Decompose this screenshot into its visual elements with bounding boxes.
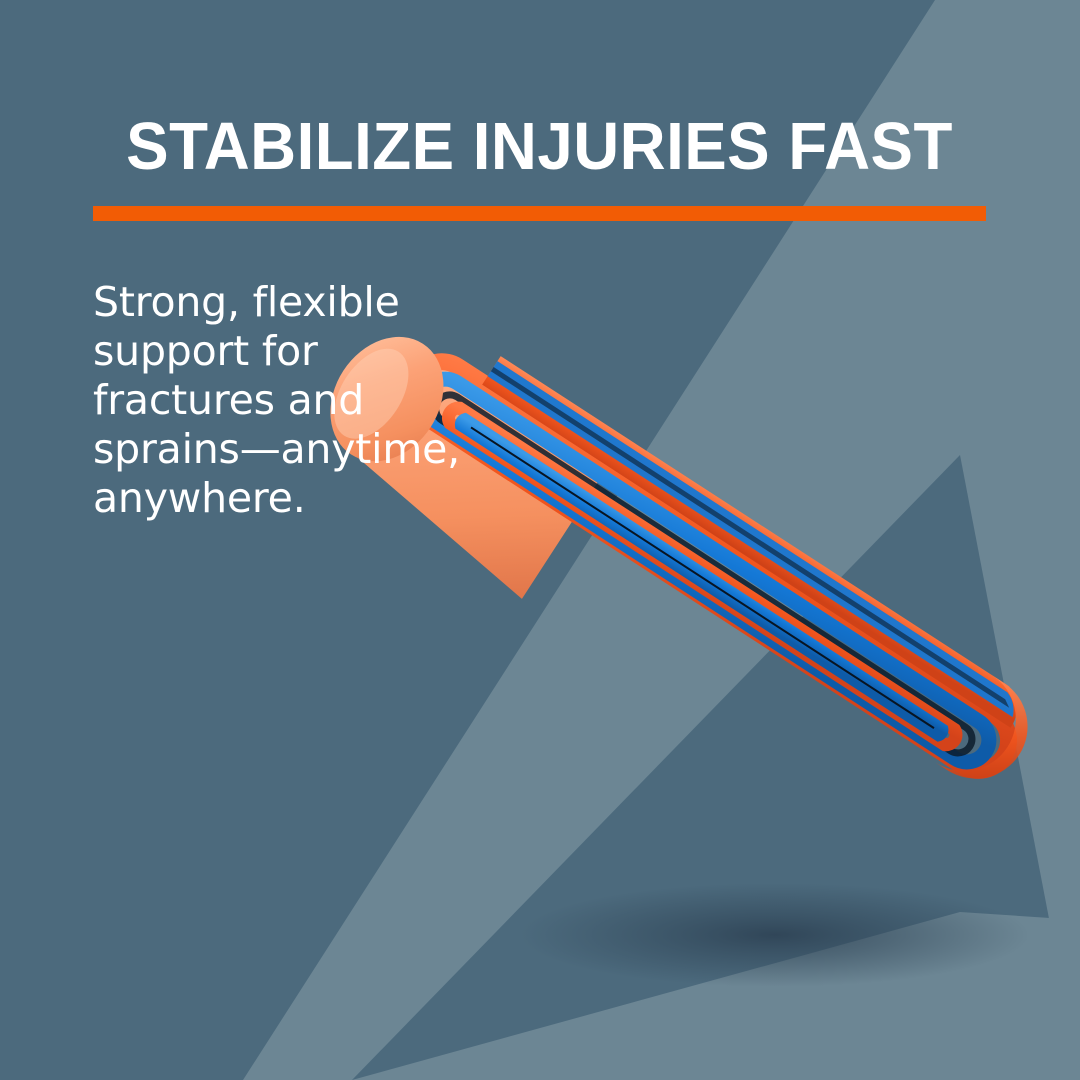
- promo-graphic-canvas: STABILIZE INJURIES FAST Strong, flexible…: [0, 0, 1080, 1080]
- page-title: STABILIZE INJURIES FAST: [115, 112, 963, 182]
- body-line: anywhere.: [93, 474, 513, 523]
- body-line: Strong, flexible: [93, 278, 513, 327]
- body-paragraph: Strong, flexible support for fractures a…: [93, 278, 513, 523]
- accent-divider: [93, 206, 986, 221]
- body-line: fractures and: [93, 376, 513, 425]
- body-line: support for: [93, 327, 513, 376]
- product-drop-shadow: [520, 883, 1030, 987]
- body-line: sprains—anytime,: [93, 425, 513, 474]
